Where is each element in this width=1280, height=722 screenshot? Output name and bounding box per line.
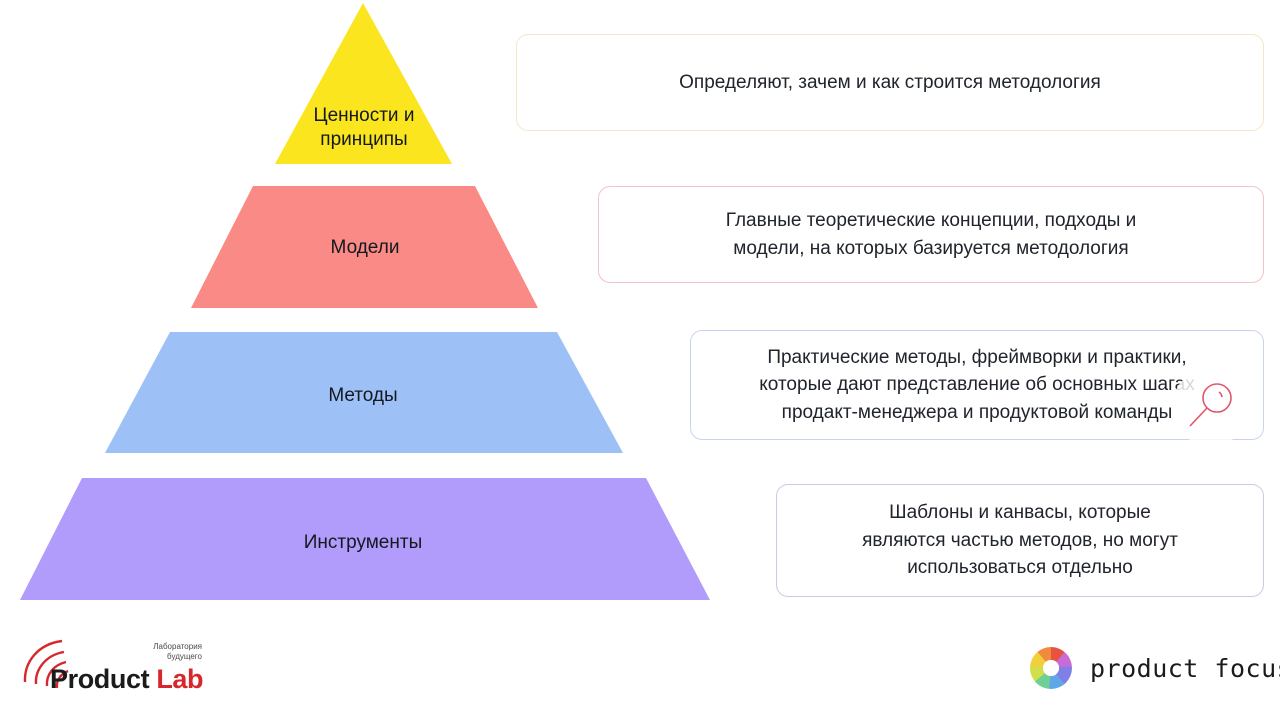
product-lab-word-lab: Lab	[156, 664, 203, 694]
color-wheel-icon	[1030, 647, 1072, 689]
product-lab-logo[interactable]: Product Lab Лаборатория будущего	[18, 636, 218, 706]
pyramid-tier-instruments-shape[interactable]	[20, 478, 710, 600]
product-lab-tagline: Лаборатория будущего	[126, 642, 202, 662]
pyramid-tier-methods-shape[interactable]	[105, 332, 623, 453]
slide-canvas: Ценности и принципы Модели Методы Инстру…	[0, 0, 1280, 722]
callout-models-text: Главные теоретические концепции, подходы…	[726, 207, 1137, 262]
pyramid-tier-values-shape[interactable]	[275, 3, 452, 164]
callout-methods[interactable]: Практические методы, фреймворки и практи…	[690, 330, 1264, 440]
product-focus-logo[interactable]: product focus	[1030, 643, 1264, 693]
product-focus-wordmark: product focus	[1090, 654, 1280, 683]
callout-values-text: Определяют, зачем и как строится методол…	[679, 69, 1101, 97]
callout-models[interactable]: Главные теоретические концепции, подходы…	[598, 186, 1264, 283]
callout-methods-text: Практические методы, фреймворки и практи…	[759, 344, 1194, 427]
callout-values[interactable]: Определяют, зачем и как строится методол…	[516, 34, 1264, 131]
product-lab-word-product: Product	[50, 664, 149, 694]
callout-instruments-text: Шаблоны и канвасы, которые являются част…	[862, 499, 1178, 582]
product-lab-wordmark: Product Lab	[50, 664, 203, 695]
pyramid-tier-models-shape[interactable]	[191, 186, 538, 308]
callout-instruments[interactable]: Шаблоны и канвасы, которые являются част…	[776, 484, 1264, 597]
